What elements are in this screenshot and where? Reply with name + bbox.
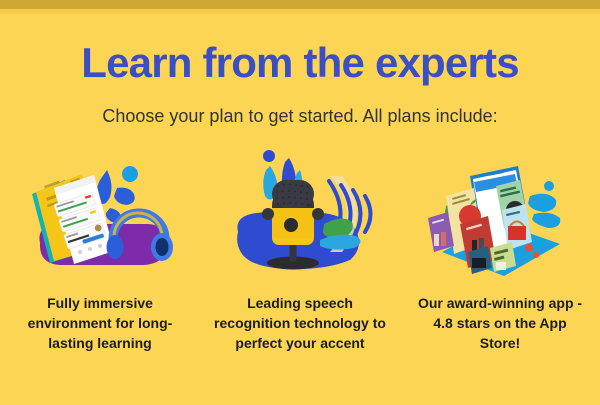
pricing-hero-section: Learn from the experts Choose your plan …	[0, 14, 600, 405]
feature-item-award-winning-app: Our award-winning app - 4.8 stars on the…	[400, 148, 600, 353]
top-accent-bar	[0, 0, 600, 9]
page-title: Learn from the experts	[0, 42, 600, 84]
microphone-soundwaves-illustration	[210, 148, 390, 283]
feature-caption: Our award-winning app - 4.8 stars on the…	[414, 293, 586, 353]
feature-list: Fully immersive environment for long-las…	[0, 148, 600, 353]
phone-headphones-illustration	[10, 148, 190, 283]
feature-item-immersive-environment: Fully immersive environment for long-las…	[0, 148, 200, 353]
feature-caption: Leading speech recognition technology to…	[210, 293, 390, 353]
feature-item-speech-recognition: Leading speech recognition technology to…	[200, 148, 400, 353]
app-store-phone-illustration	[410, 148, 590, 283]
feature-caption: Fully immersive environment for long-las…	[10, 293, 190, 353]
page-subtitle: Choose your plan to get started. All pla…	[0, 106, 600, 128]
